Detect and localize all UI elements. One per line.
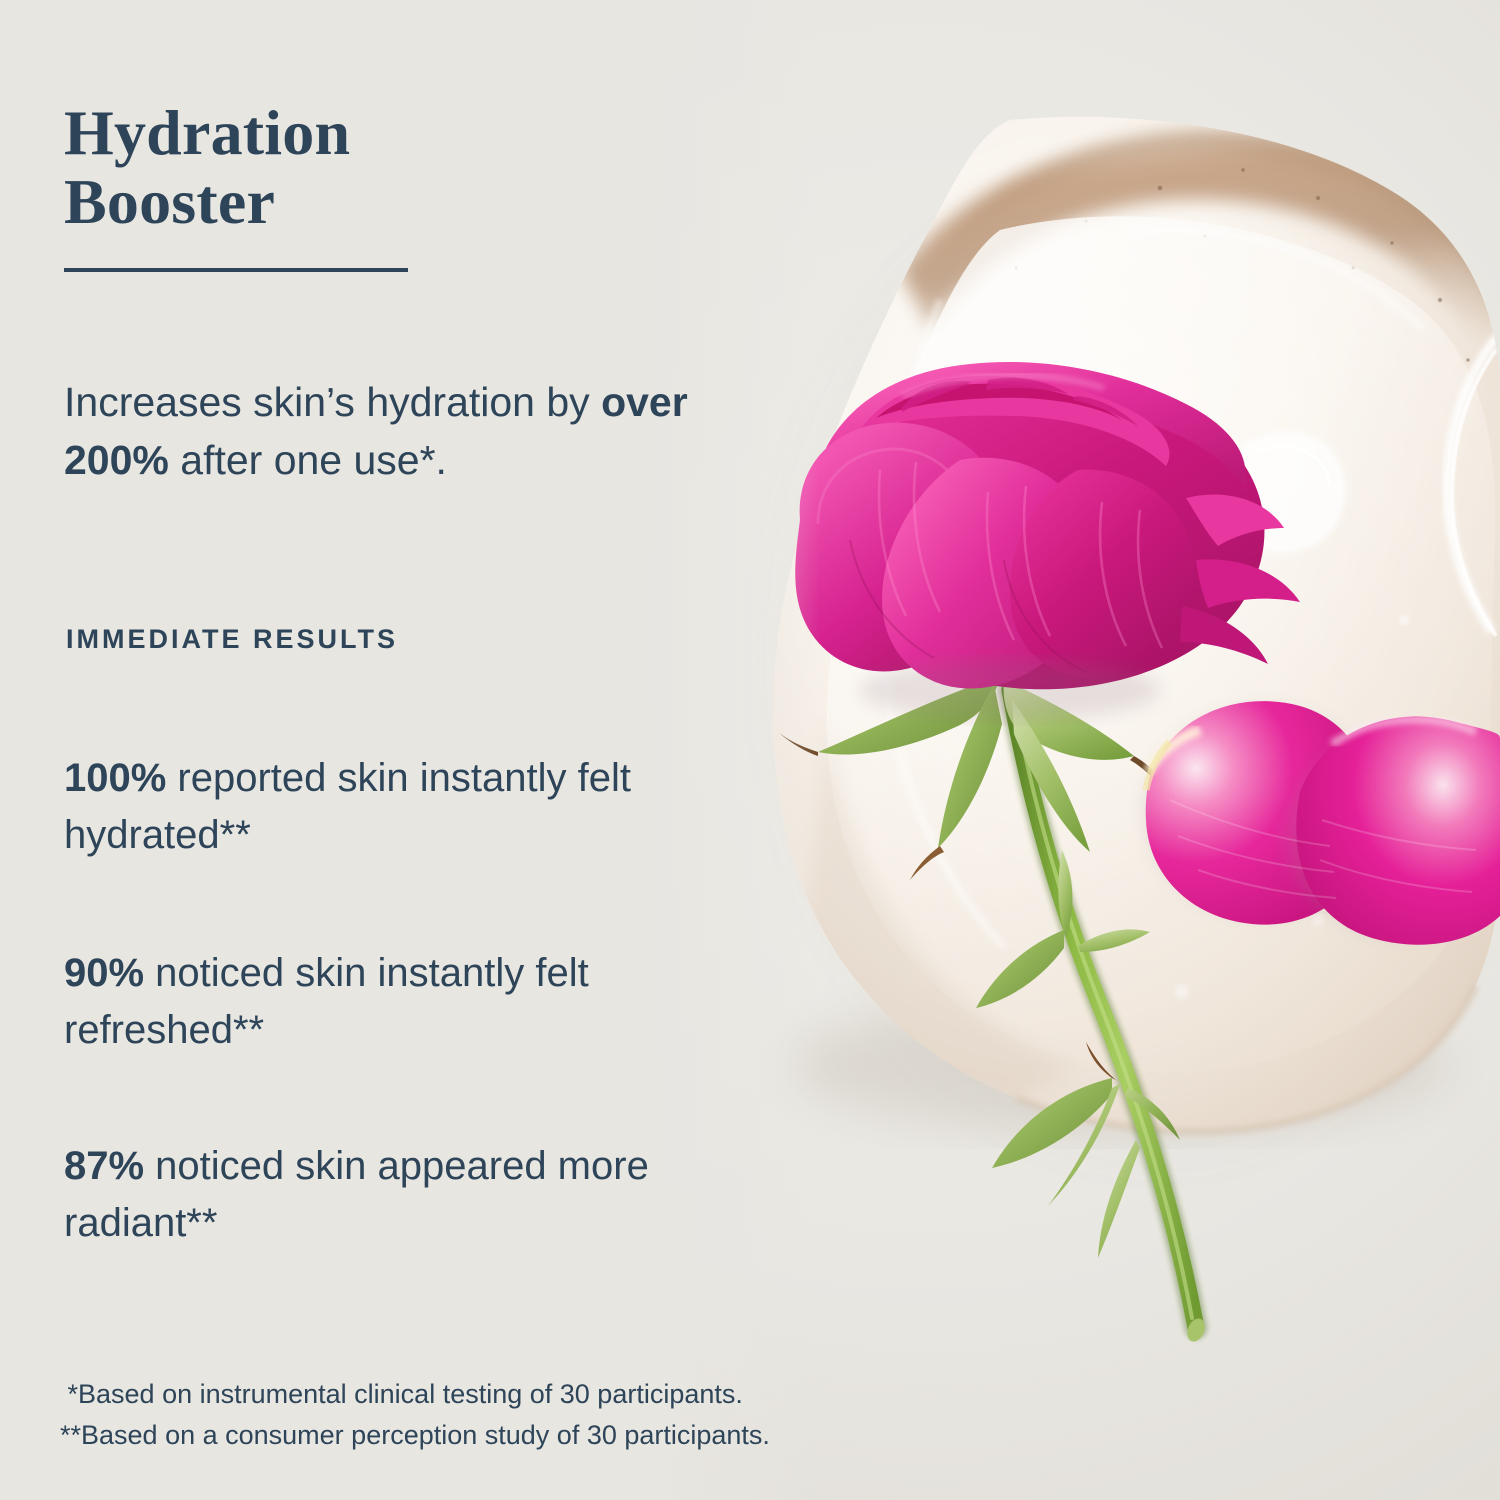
stat-item: 100% reported skin instantly felt hydrat… (64, 750, 784, 864)
stat-item: 87% noticed skin appeared more radiant** (64, 1138, 784, 1252)
product-claims-panel: Hydration Booster Increases skin’s hydra… (0, 0, 1500, 1500)
page-title: Hydration Booster (64, 98, 624, 236)
claims-text-column: Hydration Booster Increases skin’s hydra… (0, 0, 800, 1500)
stat-item: 90% noticed skin instantly felt refreshe… (64, 945, 784, 1059)
headline-claim: Increases skin’s hydration by over 200% … (64, 373, 784, 489)
section-label-immediate-results: IMMEDIATE RESULTS (66, 624, 398, 655)
footnote-single-asterisk: *Based on instrumental clinical testing … (60, 1374, 1080, 1415)
footnotes: *Based on instrumental clinical testing … (60, 1374, 1080, 1456)
stat-value: 100% (64, 756, 166, 800)
stat-value: 87% (64, 1144, 144, 1188)
headline-prefix: Increases skin’s hydration by (64, 379, 601, 425)
stat-value: 90% (64, 951, 144, 995)
stat-text: noticed skin appeared more radiant** (64, 1144, 649, 1245)
footnote-double-asterisk: **Based on a consumer perception study o… (60, 1415, 1080, 1456)
title-divider (64, 268, 408, 272)
headline-suffix: after one use*. (169, 437, 447, 483)
